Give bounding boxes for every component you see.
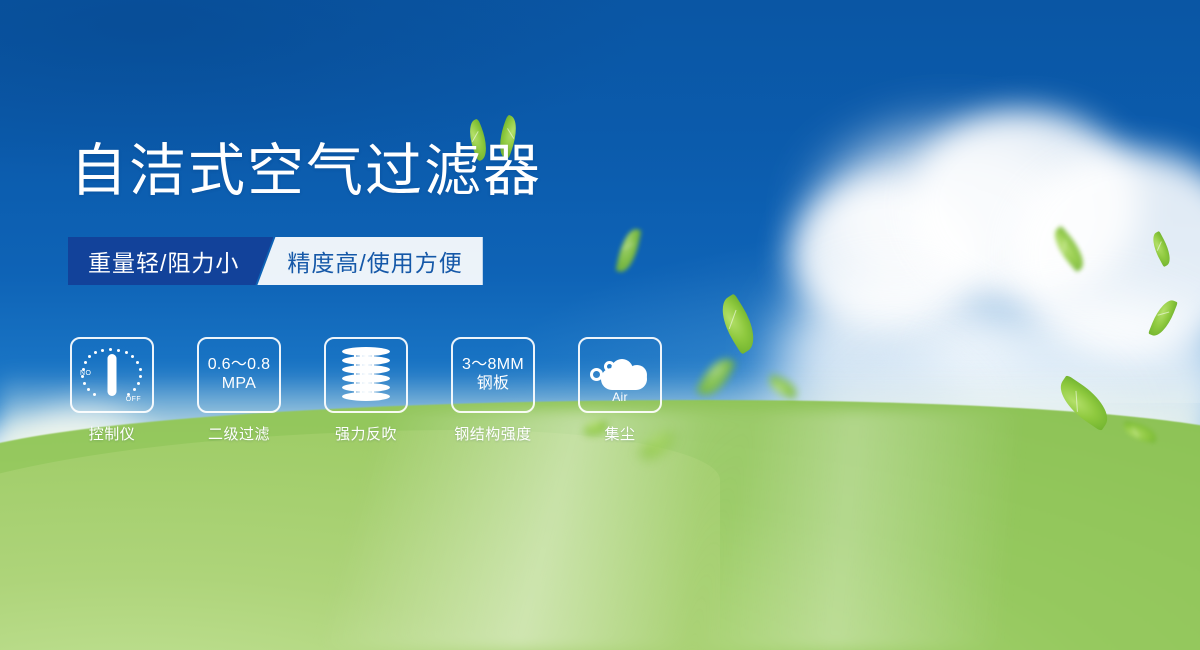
feature-icon-box: 0.6～0.8 MPA (197, 337, 281, 413)
page-title: 自洁式空气过滤器 (70, 143, 542, 200)
air-label: Air (589, 390, 651, 404)
feature-caption: 强力反吹 (335, 423, 397, 444)
feature-item-backblow[interactable]: 强力反吹 (324, 337, 408, 444)
floating-leaf (712, 293, 764, 354)
dial-label-on: NO (80, 370, 91, 377)
feature-caption: 控制仪 (89, 423, 136, 444)
feature-icon-box: Air (578, 337, 662, 413)
feature-item-pressure[interactable]: 0.6～0.8 MPA 二级过滤 (197, 337, 281, 444)
feature-item-steel[interactable]: 3～8MM 钢板 钢结构强度 (451, 337, 535, 444)
dial-knob (108, 354, 117, 396)
pressure-unit-text: MPA (222, 375, 256, 394)
dust-particle-icon (616, 360, 625, 369)
feature-icon-box: NO OFF (70, 337, 154, 413)
floating-leaf (616, 227, 642, 275)
feature-caption: 集尘 (604, 423, 635, 444)
gauge-dial-icon: NO OFF (81, 346, 143, 404)
feature-icon-box (324, 337, 408, 413)
feature-icon-box: 3～8MM 钢板 (451, 337, 535, 413)
feature-item-dust[interactable]: Air 集尘 (578, 337, 662, 444)
filter-stack-icon (339, 347, 393, 403)
dust-particle-icon (590, 368, 603, 381)
steel-thickness-text: 3～8MM (462, 356, 524, 375)
hero-banner: 自洁式空气过滤器 重量轻/阻力小 精度高/使用方便 (0, 0, 1200, 650)
dust-cloud-icon: Air (589, 351, 651, 399)
pressure-range-text: 0.6～0.8 (208, 356, 271, 375)
subtitle-bar: 重量轻/阻力小 精度高/使用方便 (68, 237, 483, 285)
feature-caption: 二级过滤 (208, 423, 270, 444)
dust-particle-icon (604, 361, 615, 372)
subtitle-segment-right: 精度高/使用方便 (257, 237, 482, 285)
feature-list: NO OFF 控制仪 0.6～0.8 MPA 二级过滤 (70, 337, 662, 444)
grass-hill-foreground (0, 430, 720, 650)
dial-label-off: OFF (126, 396, 141, 403)
subtitle-segment-left: 重量轻/阻力小 (68, 237, 273, 285)
steel-plate-text: 钢板 (477, 375, 510, 394)
feature-item-controller[interactable]: NO OFF 控制仪 (70, 337, 154, 444)
feature-caption: 钢结构强度 (454, 423, 532, 444)
